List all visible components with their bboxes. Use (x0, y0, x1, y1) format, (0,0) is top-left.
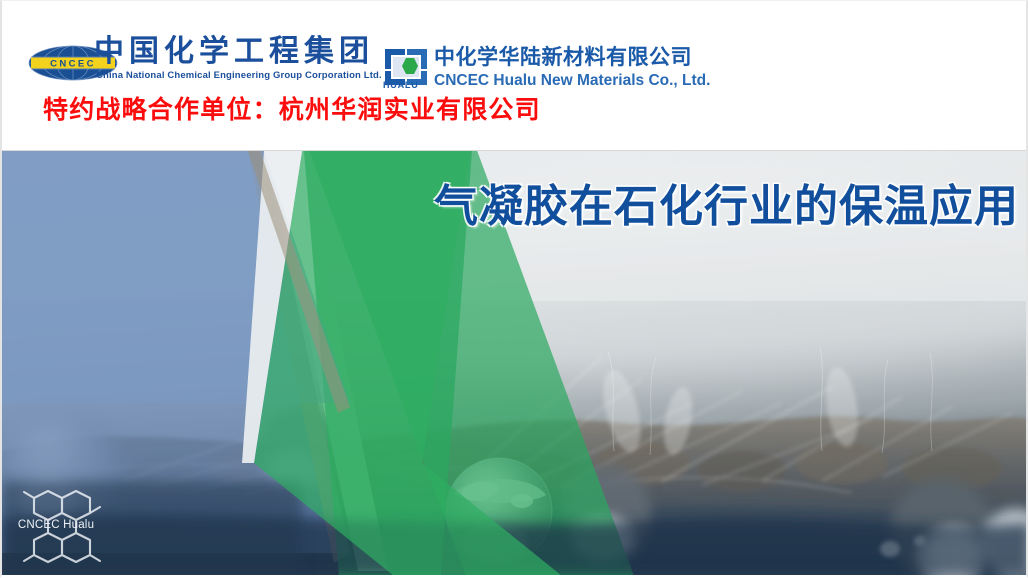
hualu-name-cn: 中化学华陆新材料有限公司 (434, 47, 692, 68)
partner-line: 特约战略合作单位：杭州华润实业有限公司 (43, 97, 541, 122)
hualu-mark-text: HUALU (383, 81, 419, 90)
watermark-label: CNCEC Hualu (10, 519, 102, 531)
cncec-name-cn: 中国化学工程集团 (94, 37, 374, 67)
slide-title: 气凝胶在石化行业的保温应用 (339, 184, 1019, 230)
cncec-name-en: China National Chemical Engineering Grou… (96, 71, 382, 81)
presentation-slide: CNCEC 中国化学工程集团 China National Chemical E… (0, 0, 1028, 578)
svg-text:CNCEC: CNCEC (50, 59, 96, 70)
hualu-name-en: CNCEC Hualu New Materials Co., Ltd. (434, 73, 710, 89)
logo-row: CNCEC 中国化学工程集团 China National Chemical E… (2, 19, 1028, 81)
slide-header: CNCEC 中国化学工程集团 China National Chemical E… (2, 1, 1028, 151)
